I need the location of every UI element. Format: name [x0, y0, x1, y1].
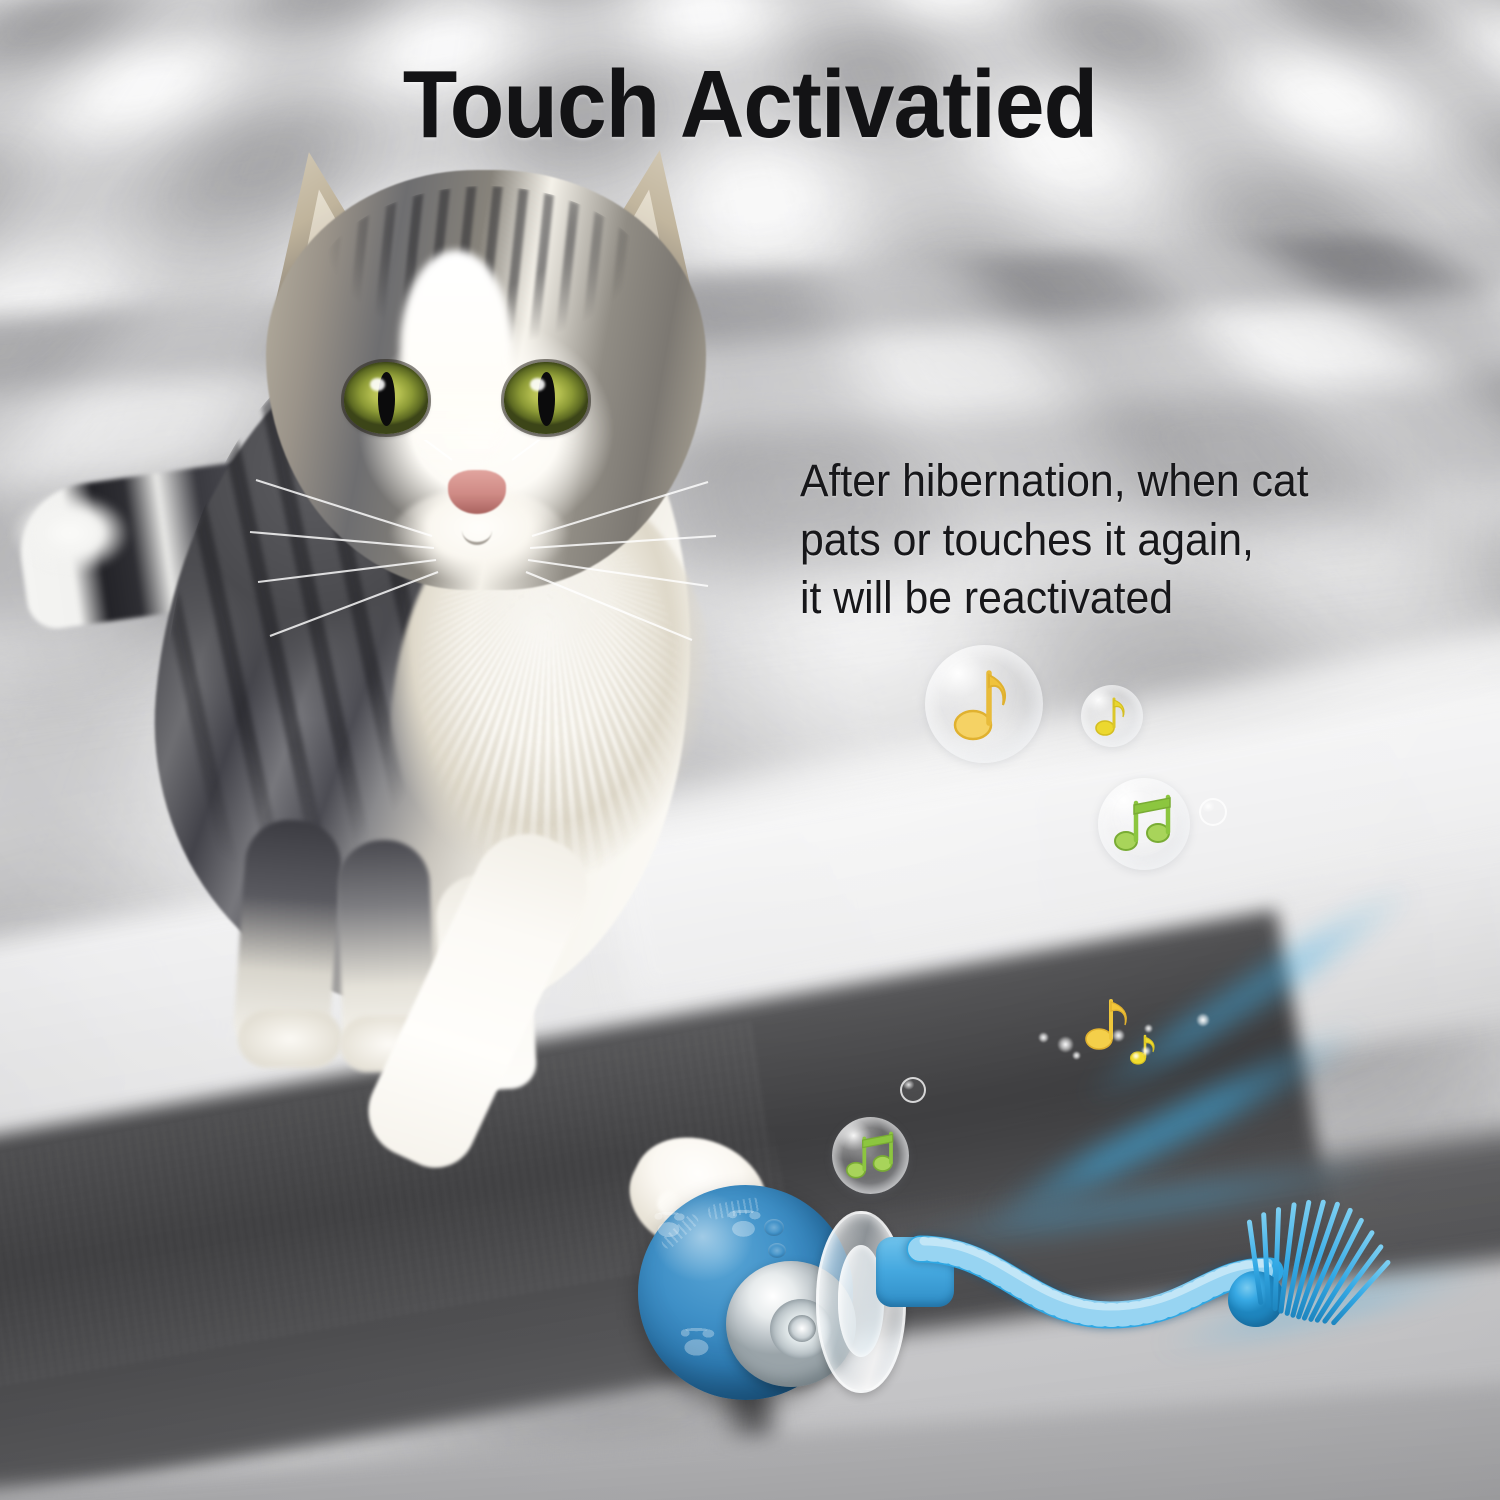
sparkle-dot [1132, 1052, 1140, 1060]
cat-eye-glint-left [370, 378, 385, 391]
music-bubble-green-near-ball [832, 1117, 909, 1194]
sparkle-dot [1038, 1032, 1049, 1043]
feature-description: After hibernation, when cat pats or touc… [800, 452, 1408, 628]
tassel-strand [1261, 1212, 1271, 1308]
sparkle-dot [1141, 1046, 1151, 1056]
cat-face-blaze [400, 250, 512, 480]
cat-mouth [462, 516, 492, 545]
cat-ball-toy [630, 1175, 1500, 1425]
cat-hind-paw-left [238, 1010, 342, 1068]
cat-tail-tip [10, 492, 130, 574]
empty-mini-bubble-1 [1199, 798, 1227, 826]
sparkle-dot [1057, 1036, 1074, 1053]
eighth-note-icon [1095, 694, 1129, 738]
ball-dot-emboss-2 [768, 1243, 786, 1258]
ball-pawprint-emboss-1 [652, 1211, 688, 1241]
beamed-eighth-notes-icon [846, 1130, 896, 1182]
eighth-note-icon [953, 665, 1015, 743]
music-bubble-large-yellow [925, 645, 1043, 763]
sparkle-dot [1196, 1013, 1210, 1027]
music-bubble-green-beamed [1098, 778, 1190, 870]
product-marketing-image: Touch Activatied After hibernation, when… [0, 0, 1500, 1500]
caption-line-3: it will be reactivated [800, 569, 1408, 628]
sparkle-dot [1072, 1051, 1081, 1060]
toy-metal-core [788, 1315, 816, 1342]
empty-mini-bubble-2 [900, 1077, 926, 1103]
ball-pawprint-emboss-2 [726, 1209, 764, 1241]
cat-eye-glint-right [530, 378, 545, 391]
music-bubble-small-yellow [1081, 685, 1143, 747]
ball-dot-emboss-1 [764, 1219, 784, 1236]
beamed-eighth-notes-icon [1114, 793, 1174, 855]
caption-line-2: pats or touches it again, [800, 511, 1408, 570]
toy-rope [880, 1165, 1500, 1425]
caption-line-1: After hibernation, when cat [800, 452, 1408, 511]
cat-photo [10, 140, 830, 1250]
ball-pawprint-emboss-3 [678, 1327, 718, 1360]
sparkle-dot [1112, 1029, 1125, 1042]
sparkle-dot [1144, 1024, 1153, 1033]
tassel-strand [1247, 1219, 1264, 1305]
page-title: Touch Activatied [53, 50, 1448, 160]
floating-note-yellow-large [1085, 995, 1135, 1053]
